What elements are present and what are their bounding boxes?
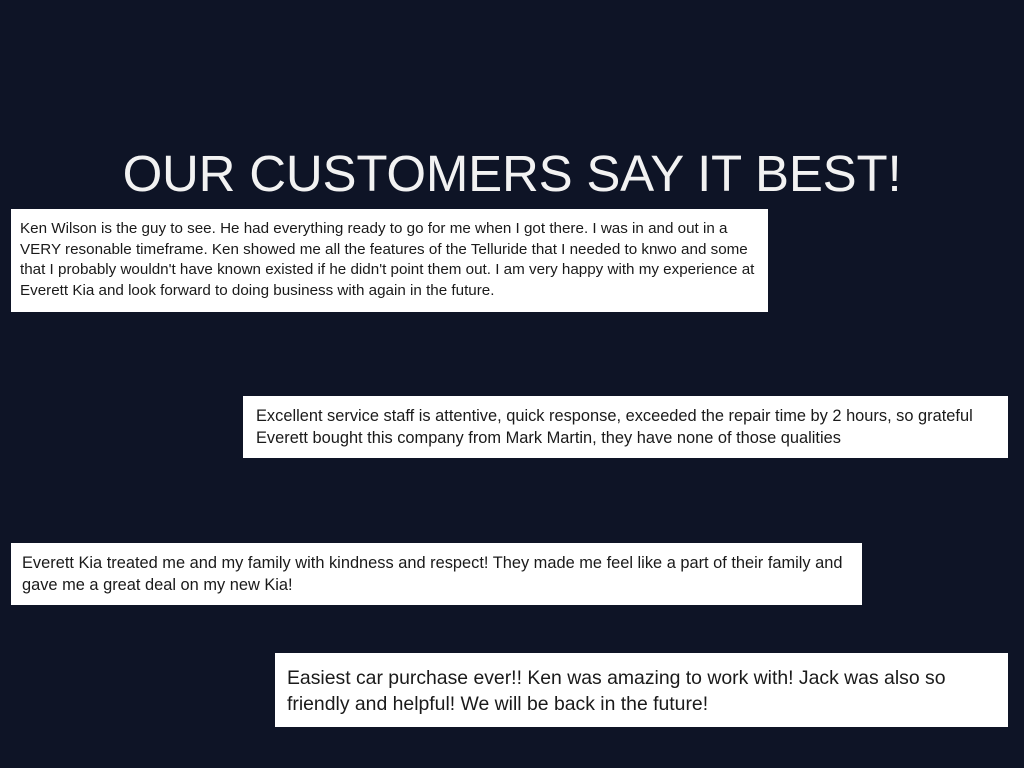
presentation-slide: OUR CUSTOMERS SAY IT BEST! Ken Wilson is… bbox=[0, 0, 1024, 768]
testimonial-text-4: Easiest car purchase ever!! Ken was amaz… bbox=[287, 665, 998, 717]
testimonial-card-3: Everett Kia treated me and my family wit… bbox=[11, 543, 862, 605]
testimonial-card-2: Excellent service staff is attentive, qu… bbox=[243, 396, 1008, 458]
testimonial-text-3: Everett Kia treated me and my family wit… bbox=[22, 552, 852, 597]
testimonial-text-1: Ken Wilson is the guy to see. He had eve… bbox=[20, 219, 759, 301]
page-title: OUR CUSTOMERS SAY IT BEST! bbox=[0, 146, 1024, 202]
testimonial-text-2: Excellent service staff is attentive, qu… bbox=[256, 405, 998, 450]
testimonial-card-4: Easiest car purchase ever!! Ken was amaz… bbox=[275, 653, 1008, 727]
testimonial-card-1: Ken Wilson is the guy to see. He had eve… bbox=[11, 209, 768, 312]
